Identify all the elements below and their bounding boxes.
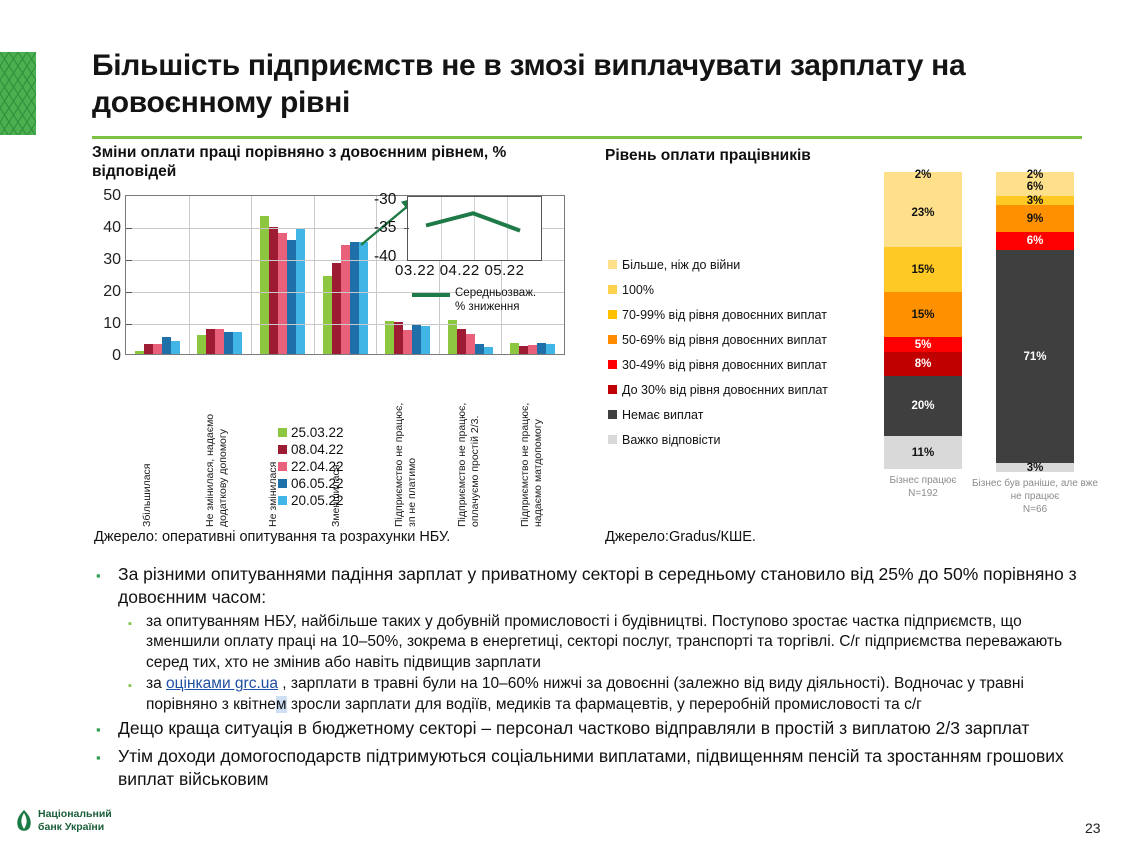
decorative-green-block [0, 52, 36, 135]
legend-item: Важко відповісти [608, 427, 828, 452]
legend-label: 30-49% від рівня довоєнних виплат [622, 358, 827, 372]
bar [510, 343, 519, 354]
legend-swatch [608, 385, 617, 394]
legend-label: Важко відповісти [622, 433, 721, 447]
bullet-text: За різними опитуваннями падіння зарплат … [118, 563, 1096, 610]
bullet-item-level2: ▪за опитуванням НБУ, найбільше таких у д… [128, 612, 1096, 674]
bullet-marker: ▪ [96, 745, 118, 792]
legend-swatch [608, 335, 617, 344]
bullet-text: за опитуванням НБУ, найбільше таких у до… [146, 612, 1096, 674]
bar [457, 329, 466, 354]
stack-segment: 3% [996, 196, 1074, 205]
bar [484, 347, 493, 354]
legend-label: 22.04.22 [291, 459, 344, 474]
legend-swatch [278, 462, 287, 471]
stack-segment: 15% [884, 292, 962, 337]
stack-segment: 6% [996, 232, 1074, 250]
bar-group [251, 196, 314, 354]
slide: Більшість підприємств не в змозі виплачу… [0, 0, 1145, 859]
bar [144, 344, 153, 354]
inset-line-chart [407, 196, 542, 261]
bar [475, 344, 484, 354]
legend-swatch [608, 410, 617, 419]
stack-segment: 11% [884, 436, 962, 469]
legend-swatch [608, 360, 617, 369]
stacked-bar: 2%6%3%9%6%71%3%Бізнес був раніше, але вж… [996, 172, 1074, 472]
stack-segment: 15% [884, 247, 962, 292]
y-axis-label: 40 [103, 219, 121, 237]
x-axis-label: Підприємство не працює, оплачуємо прості… [456, 385, 488, 527]
category-separator [251, 196, 252, 354]
x-axis-label: Збільшилася [141, 427, 173, 527]
bar [135, 351, 144, 354]
x-axis-label: Підприємство не працює, надаємо матдопом… [519, 385, 551, 527]
y-tickmark [126, 228, 132, 229]
legend-item: 50-69% від рівня довоєнних виплат [608, 327, 828, 352]
bar [528, 345, 537, 354]
gridline [126, 324, 564, 325]
bar-chart-x-axis-labels: ЗбільшиласяНе змінилася, надаємо додатко… [125, 362, 567, 527]
legend-label: Немає виплат [622, 408, 703, 422]
bullet-text: за оцінками grc.ua , зарплати в травні б… [146, 674, 1096, 715]
category-separator [189, 196, 190, 354]
y-tickmark [126, 292, 132, 293]
bar [350, 242, 359, 354]
bar [153, 344, 162, 354]
bar [412, 325, 421, 354]
legend-item: Немає виплат [608, 402, 828, 427]
bar [421, 326, 430, 354]
bar [332, 263, 341, 354]
right-chart-title: Рівень оплати працівників [605, 146, 1005, 165]
bar [341, 245, 350, 354]
inset-legend-line-swatch [412, 293, 450, 297]
inset-ytick-0: -30 [374, 191, 396, 209]
legend-swatch [608, 285, 617, 294]
legend-item: 20.05.22 [278, 492, 344, 509]
bar [394, 322, 403, 354]
inset-ytick-2: -40 [374, 248, 396, 266]
nbu-emblem-icon [14, 809, 34, 833]
page-number: 23 [1085, 820, 1101, 836]
y-axis-label: 30 [103, 251, 121, 269]
bar [171, 341, 180, 354]
bar [537, 343, 546, 354]
left-chart-source: Джерело: оперативні опитування та розрах… [94, 529, 450, 545]
stacked-bar-business-working: 2%23%15%15%5%8%20%11%Бізнес працюєN=192 [884, 172, 962, 469]
stack-segment: 8% [884, 352, 962, 376]
legend-item: 70-99% від рівня довоєнних виплат [608, 302, 828, 327]
stack-segment: 20% [884, 376, 962, 436]
bar [197, 335, 206, 354]
legend-swatch [608, 435, 617, 444]
legend-item: 25.03.22 [278, 424, 344, 441]
x-axis-label: Не змінилася, надаємо додаткову допомогу [204, 367, 236, 527]
inset-line-path [408, 197, 539, 258]
legend-label: Більше, ніж до війни [622, 258, 740, 272]
bullet-marker: ▪ [128, 612, 146, 674]
legend-swatch [608, 260, 617, 269]
legend-label: 08.04.22 [291, 442, 344, 457]
bar [287, 240, 296, 354]
bar [448, 320, 457, 354]
stacked-bar-business-closed: 2%6%3%9%6%71%3%Бізнес був раніше, але вж… [996, 172, 1074, 472]
bullet-item-level2: ▪за оцінками grc.ua , зарплати в травні … [128, 674, 1096, 715]
y-tickmark [126, 324, 132, 325]
title-divider [92, 136, 1082, 139]
y-axis-label: 0 [112, 347, 121, 365]
legend-item: 22.04.22 [278, 458, 344, 475]
legend-label: 50-69% від рівня довоєнних виплат [622, 333, 827, 347]
legend-label: 70-99% від рівня довоєнних виплат [622, 308, 827, 322]
stack-segment: 3% [996, 463, 1074, 472]
stack-segment: 71% [996, 250, 1074, 463]
diamond-pattern-icon [0, 52, 36, 135]
bar [224, 332, 233, 354]
stack-segment: 5% [884, 337, 962, 352]
legend-swatch [278, 428, 287, 437]
stack-segment: 6% [996, 178, 1074, 196]
bar [260, 216, 269, 354]
nbu-logo: Національний банк України [14, 808, 112, 833]
stack-segment: 9% [996, 205, 1074, 232]
legend-item: До 30% від рівня довоєнних виплат [608, 377, 828, 402]
bar [359, 242, 368, 354]
bar [215, 329, 224, 354]
bar [323, 276, 332, 354]
bullet-item-level1: ▪За різними опитуваннями падіння зарплат… [96, 563, 1096, 610]
inset-x-axis-labels: 03.22 04.22 05.22 [395, 262, 524, 279]
stack-segment: 23% [884, 178, 962, 247]
right-chart-source: Джерело:Gradus/КШЕ. [605, 529, 756, 545]
stacked-chart-legend: Більше, ніж до війни100%70-99% від рівня… [608, 252, 828, 452]
inset-legend: Середньозваж. % зниження [412, 286, 547, 315]
y-axis-label: 50 [103, 187, 121, 205]
legend-swatch [278, 496, 287, 505]
bar [519, 346, 528, 354]
legend-label: До 30% від рівня довоєнних виплат [622, 383, 828, 397]
stack-caption: Бізнес був раніше, але вже не працюєN=66 [968, 477, 1102, 516]
bullet-text: Дещо краща ситуація в бюджетному секторі… [118, 717, 1029, 743]
y-axis-label: 10 [103, 315, 121, 333]
bar [385, 321, 394, 354]
bullet-list: ▪За різними опитуваннями падіння зарплат… [96, 563, 1096, 793]
legend-swatch [608, 310, 617, 319]
y-tickmark [126, 260, 132, 261]
bullet-item-level1: ▪Дещо краща ситуація в бюджетному сектор… [96, 717, 1096, 743]
legend-item: 08.04.22 [278, 441, 344, 458]
bar-group [189, 196, 252, 354]
bar [466, 334, 475, 354]
x-axis-label: Підприємство не працює, зп не платимо [393, 392, 425, 527]
bar-group [126, 196, 189, 354]
bullet-text: Утім доходи домогосподарств підтримуютьс… [118, 745, 1096, 792]
inset-legend-label: Середньозваж. % зниження [455, 286, 547, 315]
bar [162, 337, 171, 354]
legend-swatch [278, 479, 287, 488]
bar [546, 344, 555, 354]
legend-label: 100% [622, 283, 654, 297]
legend-item: Більше, ніж до війни [608, 252, 828, 277]
bullet-item-level1: ▪Утім доходи домогосподарств підтримують… [96, 745, 1096, 792]
legend-item: 30-49% від рівня довоєнних виплат [608, 352, 828, 377]
legend-label: 25.03.22 [291, 425, 344, 440]
legend-item: 100% [608, 277, 828, 302]
page-title: Більшість підприємств не в змозі виплачу… [92, 48, 1082, 121]
bar-chart-legend: 25.03.2208.04.2222.04.2206.05.2220.05.22 [278, 424, 344, 509]
left-chart-title: Зміни оплати праці порівняно з довоєнним… [92, 143, 522, 182]
legend-label: 20.05.22 [291, 493, 344, 508]
bar [403, 330, 412, 354]
bullet-marker: ▪ [128, 674, 146, 715]
bar [233, 332, 242, 354]
stacked-bar: 2%23%15%15%5%8%20%11%Бізнес працюєN=192 [884, 172, 962, 469]
grc-link[interactable]: оцінками grc.ua [166, 675, 278, 692]
bullet-marker: ▪ [96, 717, 118, 743]
y-axis-label: 20 [103, 283, 121, 301]
category-separator [314, 196, 315, 354]
bar [278, 233, 287, 354]
nbu-logo-text: Національний банк України [38, 808, 112, 833]
inset-ytick-1: -35 [374, 219, 396, 237]
legend-swatch [278, 445, 287, 454]
bar [269, 227, 278, 354]
legend-label: 06.05.22 [291, 476, 344, 491]
bullet-marker: ▪ [96, 563, 118, 610]
bar [206, 329, 215, 354]
legend-item: 06.05.22 [278, 475, 344, 492]
